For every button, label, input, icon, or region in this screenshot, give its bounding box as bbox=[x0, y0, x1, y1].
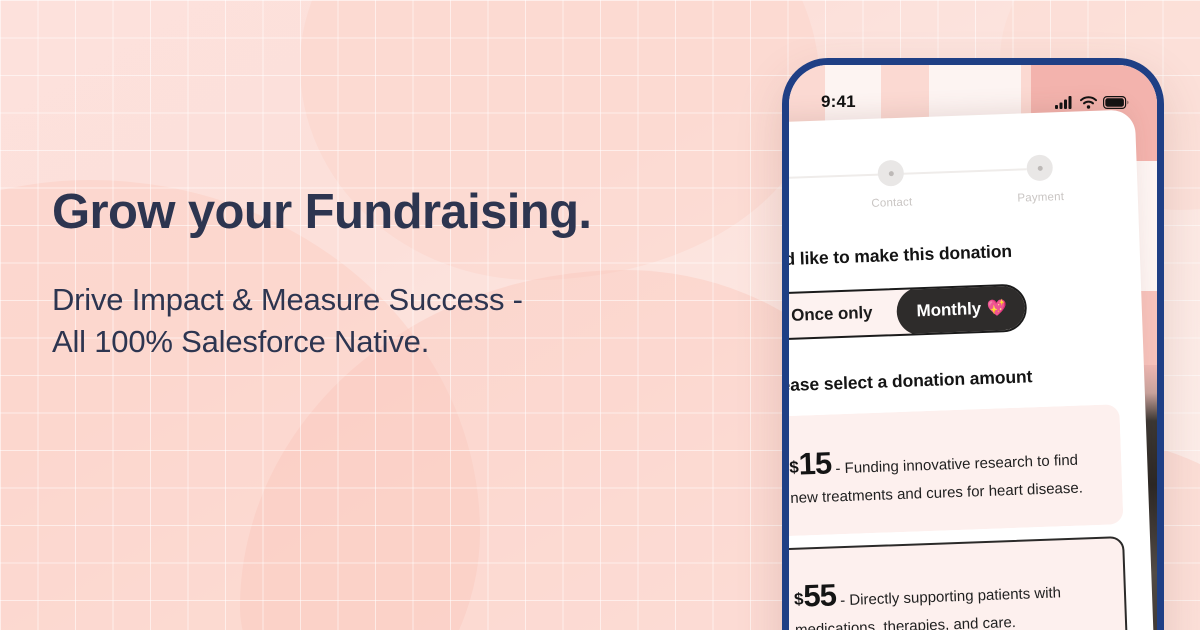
frequency-option-monthly-label: Monthly bbox=[916, 299, 981, 321]
donation-option-15[interactable]: $15 - Funding innovative research to fin… bbox=[782, 404, 1124, 540]
frequency-option-monthly[interactable]: Monthly 💖 bbox=[896, 283, 1028, 336]
wifi-icon bbox=[1080, 96, 1097, 109]
battery-icon bbox=[1103, 96, 1129, 109]
donation-option-55-text: $55 - Directly supporting patients with … bbox=[793, 548, 1116, 630]
donation-frequency-toggle[interactable]: Once only Monthly 💖 bbox=[782, 283, 1028, 340]
page-title: Grow your Fundraising. bbox=[52, 186, 632, 239]
hero-copy: Grow your Fundraising. Drive Impact & Me… bbox=[52, 186, 632, 363]
frequency-option-once-label: Once only bbox=[791, 303, 873, 326]
stepper-label-payment: Payment bbox=[1017, 191, 1064, 205]
stepper-dot-contact bbox=[877, 160, 904, 187]
donation-option-55-amount: $55 bbox=[793, 577, 836, 613]
frequency-heading: I'd like to make this donation bbox=[782, 237, 1114, 274]
sparkling-heart-icon: 💖 bbox=[987, 298, 1008, 319]
hero-subtitle-line-1: Drive Impact & Measure Success - bbox=[52, 279, 632, 321]
phone-mockup: 9:41 bbox=[782, 58, 1164, 630]
donation-option-15-description: - Funding innovative research to find ne… bbox=[790, 452, 1083, 507]
hero-subtitle: Drive Impact & Measure Success - All 100… bbox=[52, 279, 632, 363]
frequency-option-once[interactable]: Once only bbox=[782, 290, 898, 339]
stepper-dot-payment bbox=[1026, 154, 1053, 181]
donation-form-sheet: Amount Contact Payment I'd like to make … bbox=[782, 109, 1160, 630]
status-bar-icons bbox=[1055, 96, 1129, 109]
donation-amount-list: $15 - Funding innovative research to fin… bbox=[782, 404, 1133, 630]
stepper-step-contact[interactable]: Contact bbox=[857, 159, 925, 212]
amount-heading: Please select a donation amount bbox=[782, 363, 1119, 400]
status-bar-clock: 9:41 bbox=[821, 92, 856, 112]
donation-option-55[interactable]: $55 - Directly supporting patients with … bbox=[782, 536, 1128, 630]
stepper-label-contact: Contact bbox=[871, 196, 912, 209]
stepper-step-payment[interactable]: Payment bbox=[1006, 154, 1074, 207]
hero-subtitle-line-2: All 100% Salesforce Native. bbox=[52, 321, 632, 363]
form-stepper: Amount Contact Payment bbox=[782, 152, 1112, 219]
promo-banner: Grow your Fundraising. Drive Impact & Me… bbox=[0, 0, 1200, 630]
donation-option-15-amount: $15 bbox=[789, 445, 832, 481]
donation-option-15-text: $15 - Funding innovative research to fin… bbox=[788, 417, 1111, 524]
signal-icon bbox=[1055, 96, 1074, 109]
